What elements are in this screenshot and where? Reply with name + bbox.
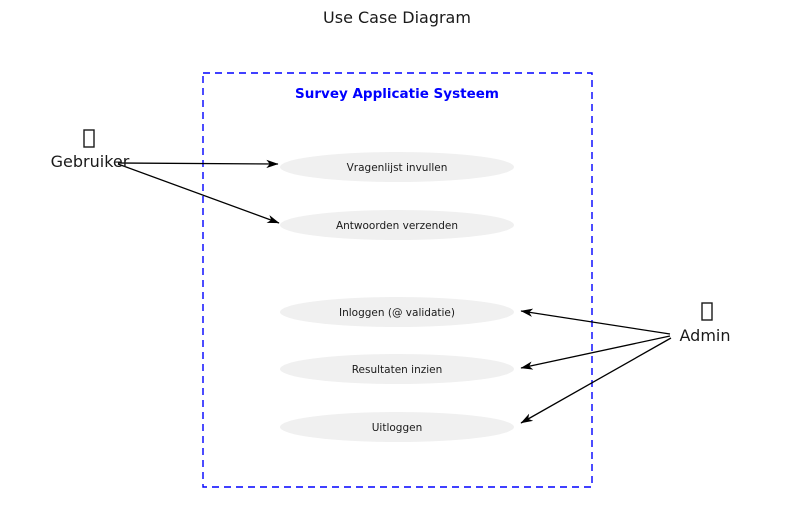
diagram-svg: Use Case Diagram Survey Applicatie Syste… bbox=[0, 0, 794, 524]
missing-glyph-box-icon bbox=[84, 130, 94, 147]
association-gebruiker-vragenlijst-invullen[interactable] bbox=[118, 163, 278, 164]
use-case-antwoorden-verzenden[interactable]: Antwoorden verzenden bbox=[280, 210, 514, 240]
association-group bbox=[118, 163, 671, 423]
use-case-label: Inloggen (@ validatie) bbox=[339, 307, 455, 319]
actor-label: Admin bbox=[680, 326, 731, 345]
actor-label: Gebruiker bbox=[51, 152, 130, 171]
use-case-label: Vragenlijst invullen bbox=[347, 162, 448, 174]
use-case-label: Antwoorden verzenden bbox=[336, 220, 458, 232]
page-title: Use Case Diagram bbox=[323, 8, 471, 27]
use-case-uitloggen[interactable]: Uitloggen bbox=[280, 412, 514, 442]
missing-glyph-box-icon bbox=[702, 303, 712, 320]
use-case-label: Uitloggen bbox=[372, 422, 423, 434]
use-case-label: Resultaten inzien bbox=[352, 364, 443, 376]
association-admin-uitloggen[interactable] bbox=[521, 338, 671, 423]
actor-admin[interactable]: Admin bbox=[680, 303, 731, 345]
association-admin-resultaten-inzien[interactable] bbox=[521, 336, 670, 368]
use-case-vragenlijst-invullen[interactable]: Vragenlijst invullen bbox=[280, 152, 514, 182]
use-case-inloggen-validatie[interactable]: Inloggen (@ validatie) bbox=[280, 297, 514, 327]
association-admin-inloggen-validatie[interactable] bbox=[521, 311, 670, 334]
system-boundary-label: Survey Applicatie Systeem bbox=[295, 86, 499, 102]
use-case-diagram-canvas: Use Case Diagram Survey Applicatie Syste… bbox=[0, 0, 794, 524]
actor-gebruiker[interactable]: Gebruiker bbox=[51, 130, 130, 171]
use-case-resultaten-inzien[interactable]: Resultaten inzien bbox=[280, 354, 514, 384]
association-gebruiker-antwoorden-verzenden[interactable] bbox=[118, 164, 279, 223]
